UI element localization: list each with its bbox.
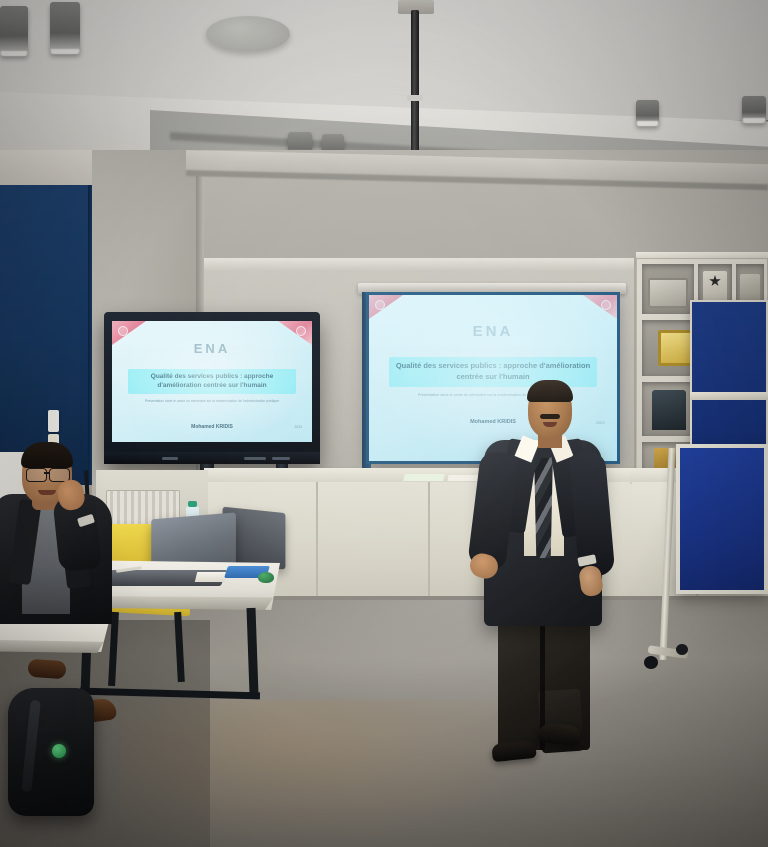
projection-wash [369, 295, 617, 461]
tv-control-icon[interactable] [244, 457, 266, 460]
slide-corner-dot-icon [296, 326, 306, 336]
framed-award [648, 278, 688, 308]
trophy [652, 390, 686, 430]
downlight-icon [50, 2, 80, 54]
ceiling-speaker-icon [206, 16, 290, 52]
backpack[interactable] [8, 688, 94, 816]
shoe [27, 659, 66, 680]
slide-author: Mohamed KRIDIS [112, 424, 312, 430]
water-bottle-cap [188, 501, 197, 507]
slide-title: Qualité des services publics : approche … [128, 369, 296, 394]
shelf-cell [642, 264, 694, 314]
photo-scene: ENA Qualité des services publics : appro… [0, 0, 768, 847]
eyeglasses-bridge-icon [44, 472, 50, 474]
downlight-icon [742, 96, 766, 123]
tv-bottom-bezel [104, 452, 320, 464]
downlight-icon [636, 100, 659, 126]
blue-pinboard-divider [690, 392, 768, 400]
projection-screen[interactable]: ENA Qualité des services publics : appro… [366, 292, 620, 464]
star-icon [709, 275, 721, 287]
wall-alcove-lip [204, 258, 634, 270]
tv-control-icon[interactable] [272, 457, 290, 460]
presenter-mustache [540, 414, 560, 419]
flat-screen-tv[interactable]: ENA Qualité des services publics : appro… [104, 312, 320, 464]
castor-wheel-icon [644, 656, 658, 669]
slide-logo-ena: ENA [112, 341, 312, 356]
eyeglasses-icon [26, 468, 47, 482]
front-table-edge [0, 640, 108, 653]
castor-wheel-icon [676, 644, 688, 655]
attendee-hair [21, 442, 73, 468]
computer-mouse[interactable] [258, 572, 274, 583]
tv-control-icon[interactable] [162, 457, 178, 460]
paper-sheet[interactable] [403, 474, 444, 481]
projector-pole-joint [407, 95, 423, 101]
projected-slide: ENA Qualité des services publics : appro… [369, 295, 617, 461]
paper-stack[interactable] [195, 572, 227, 582]
presenter-hair [527, 380, 573, 402]
tv-slide: ENA Qualité des services publics : appro… [112, 321, 312, 442]
slide-subtitle: Présentation dans le cadre du séminaire … [140, 399, 284, 404]
slide-date: 2023 [294, 425, 302, 429]
attendee-mouth [38, 490, 56, 495]
slide-corner-dot-icon [118, 326, 128, 336]
downlight-icon [0, 6, 28, 56]
backpack-logo-icon [52, 744, 66, 758]
light-switch[interactable] [48, 410, 59, 432]
mobile-blue-board[interactable] [676, 444, 768, 594]
presenter-necktie [534, 452, 553, 558]
